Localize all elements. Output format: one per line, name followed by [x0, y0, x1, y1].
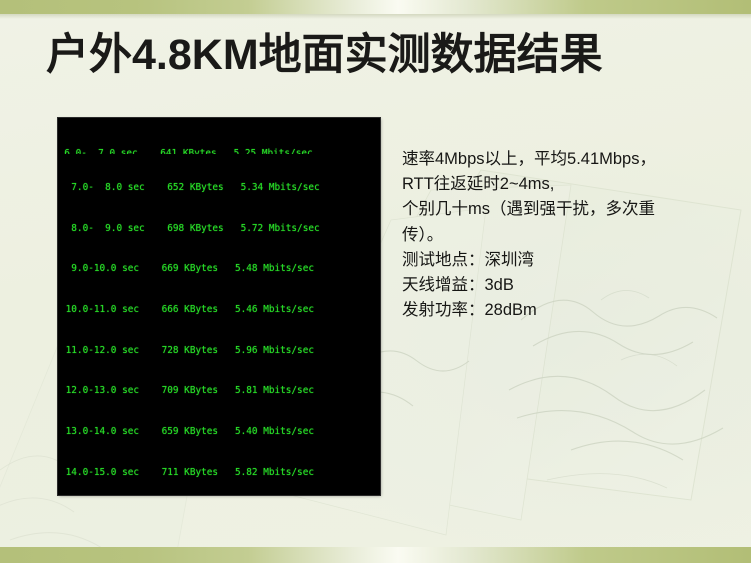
terminal-line: 9.0-10.0 sec 669 KBytes 5.48 Mbits/sec: [58, 262, 380, 276]
terminal-text-block: 6.0- 7.0 sec 641 KBytes 5.25 Mbits/sec 7…: [58, 120, 380, 495]
note-line-antenna-gain: 天线增益：3dB: [402, 273, 737, 298]
terminal-line: 11.0-12.0 sec 728 KBytes 5.96 Mbits/sec: [58, 344, 380, 358]
note-line-location: 测试地点：深圳湾: [402, 248, 737, 273]
slide-canvas: 户外4.8KM地面实测数据结果 6.0- 7.0 sec 641 KBytes …: [0, 0, 751, 563]
bottom-decorative-bar: [0, 547, 751, 563]
terminal-line: 10.0-11.0 sec 666 KBytes 5.46 Mbits/sec: [58, 303, 380, 317]
page-title: 户外4.8KM地面实测数据结果: [46, 26, 706, 84]
terminal-line: 7.0- 8.0 sec 652 KBytes 5.34 Mbits/sec: [58, 181, 380, 195]
terminal-line-clipped-top: 6.0- 7.0 sec 641 KBytes 5.25 Mbits/sec: [58, 147, 380, 154]
terminal-line: 14.0-15.0 sec 711 KBytes 5.82 Mbits/sec: [58, 466, 380, 480]
terminal-line: 13.0-14.0 sec 659 KBytes 5.40 Mbits/sec: [58, 425, 380, 439]
measurement-notes: 速率4Mbps以上，平均5.41Mbps， RTT往返延时2~4ms, 个别几十…: [402, 147, 737, 323]
top-bar-shadow: [0, 14, 751, 19]
terminal-screenshot: 6.0- 7.0 sec 641 KBytes 5.25 Mbits/sec 7…: [58, 118, 380, 495]
terminal-line: 12.0-13.0 sec 709 KBytes 5.81 Mbits/sec: [58, 384, 380, 398]
note-line-rtt: RTT往返延时2~4ms,: [402, 172, 737, 197]
top-decorative-bar: [0, 0, 751, 14]
note-line-throughput: 速率4Mbps以上，平均5.41Mbps，: [402, 147, 737, 172]
note-line-tx-power: 发射功率：28dBm: [402, 298, 737, 323]
note-line-interference: 个别几十ms（遇到强干扰，多次重: [402, 197, 737, 222]
note-line-interference-cont: 传）。: [402, 223, 737, 248]
terminal-line: 8.0- 9.0 sec 698 KBytes 5.72 Mbits/sec: [58, 222, 380, 236]
